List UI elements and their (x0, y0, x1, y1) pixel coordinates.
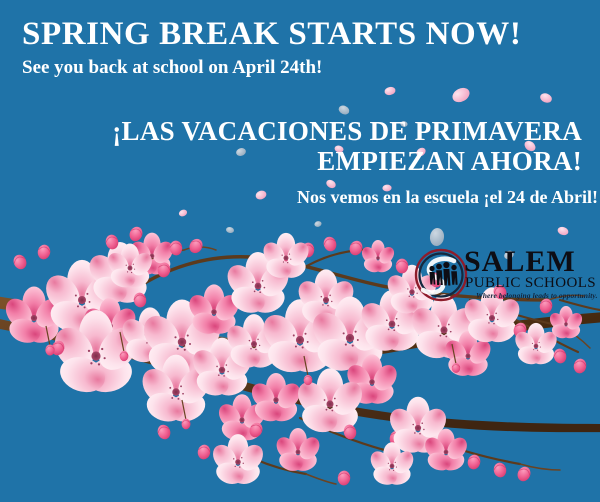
logo-tagline-text: Where belonging leads to opportunity. (476, 292, 598, 300)
logo-layer: SALEM PUBLIC SCHOOLS Where belonging lea… (0, 0, 600, 502)
poster-canvas: SPRING BREAK STARTS NOW! See you back at… (0, 0, 600, 502)
salem-public-schools-logo[interactable]: SALEM PUBLIC SCHOOLS Where belonging lea… (414, 246, 598, 306)
salem-seal-icon (414, 248, 468, 302)
logo-salem-text: SALEM (464, 247, 576, 277)
logo-public-schools-text: PUBLIC SCHOOLS (465, 276, 596, 291)
logo-wordmark: SALEM PUBLIC SCHOOLS Where belonging lea… (464, 246, 598, 304)
